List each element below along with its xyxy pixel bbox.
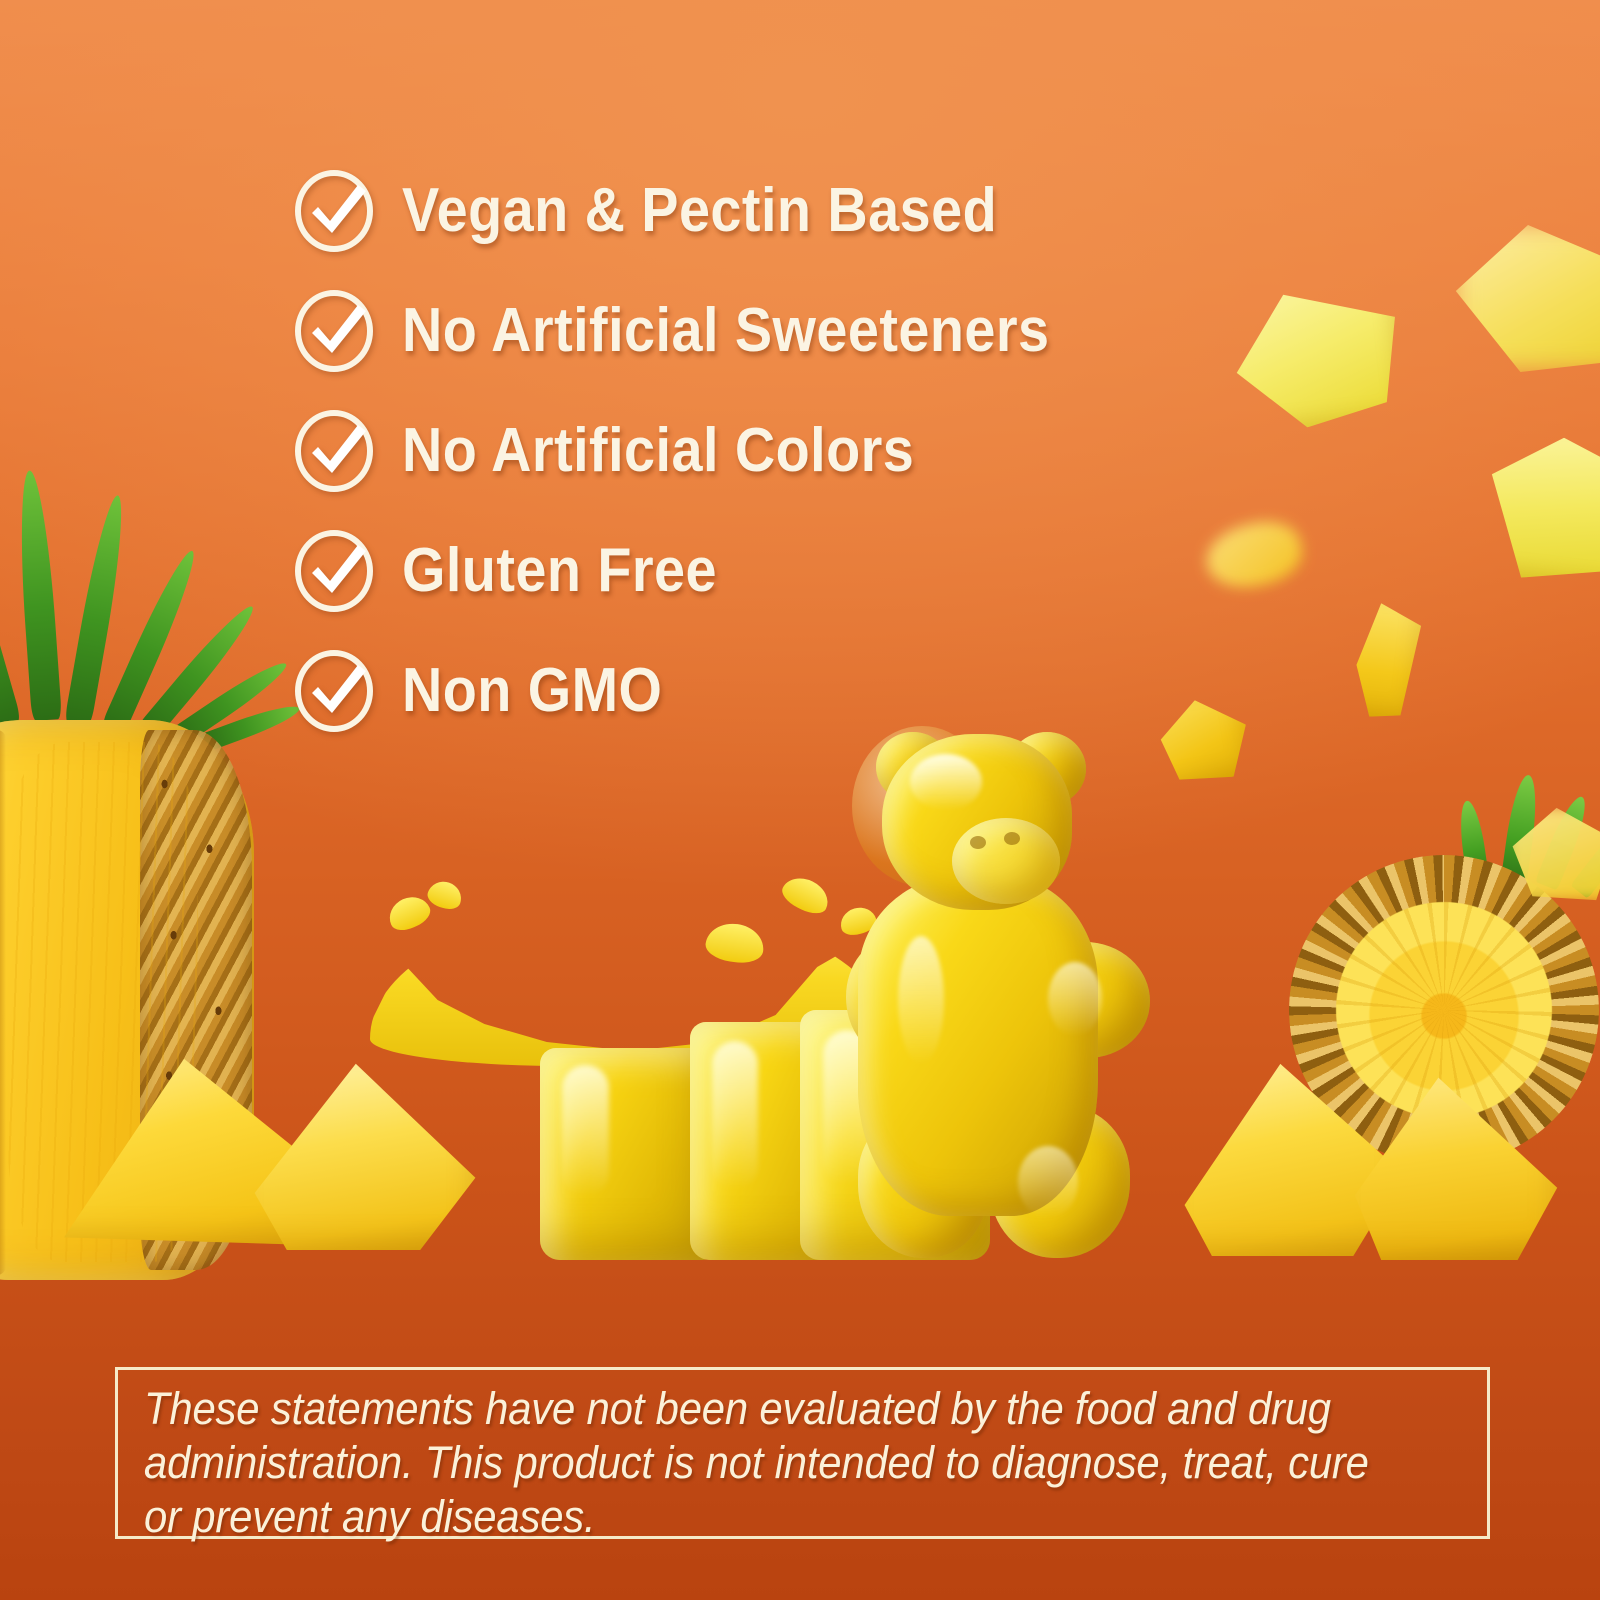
benefit-item: Vegan & Pectin Based <box>292 158 1272 264</box>
pineapple-half-image <box>0 430 334 1310</box>
benefit-item: Gluten Free <box>292 518 1272 624</box>
pineapple-slice-image <box>1268 820 1600 1320</box>
benefit-label: Vegan & Pectin Based <box>402 180 997 242</box>
check-circle-icon <box>292 409 376 493</box>
pineapple-chunk-floating-7 <box>1506 806 1600 902</box>
gummy-cube-1 <box>540 1048 722 1260</box>
check-circle-icon <box>292 289 376 373</box>
benefit-item: No Artificial Sweeteners <box>292 278 1272 384</box>
benefit-label: Gluten Free <box>402 540 717 602</box>
pineapple-chunk-floating-3 <box>1473 423 1600 591</box>
benefit-label: Non GMO <box>402 660 662 722</box>
gummy-cube-2 <box>690 1022 870 1260</box>
gummy-bear-image <box>852 726 1202 1266</box>
pineapple-wedge-right-1 <box>1180 1060 1408 1256</box>
pineapple-wedge-left-1 <box>52 1055 352 1245</box>
benefit-label: No Artificial Colors <box>402 420 914 482</box>
pineapple-wedge-right-2 <box>1346 1070 1566 1260</box>
disclaimer-text: These statements have not been evaluated… <box>144 1382 1373 1544</box>
pineapple-chunk-floating-5 <box>1344 601 1426 722</box>
juice-splash-image <box>370 880 930 1140</box>
promo-banner: Vegan & Pectin Based No Artificial Sweet… <box>0 0 1600 1600</box>
check-circle-icon <box>292 649 376 733</box>
benefits-list: Vegan & Pectin Based No Artificial Sweet… <box>292 158 1272 744</box>
benefit-item: Non GMO <box>292 638 1272 744</box>
check-circle-icon <box>292 169 376 253</box>
benefit-item: No Artificial Colors <box>292 398 1272 504</box>
gummy-cube-3 <box>800 1010 990 1260</box>
pineapple-chunk-floating-2 <box>1452 222 1600 372</box>
check-circle-icon <box>292 529 376 613</box>
benefit-label: No Artificial Sweeteners <box>402 300 1050 362</box>
disclaimer-box: These statements have not been evaluated… <box>115 1367 1490 1539</box>
pineapple-wedge-left-2 <box>250 1060 480 1250</box>
